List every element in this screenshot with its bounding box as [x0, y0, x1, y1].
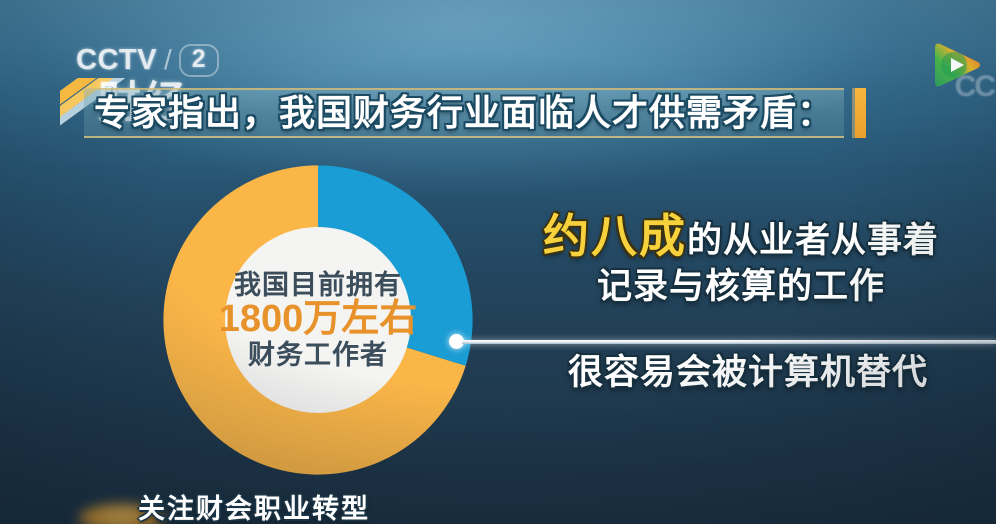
donut-center-line-1: 我国目前拥有 [213, 271, 423, 299]
callout-block: 约八成 的从业者从事着 记录与核算的工作 [498, 212, 984, 308]
cctv-slash-icon: / [164, 44, 172, 76]
ticker-text: 关注财会职业转型 [138, 487, 370, 524]
cctv-wordmark: CCTV [76, 46, 157, 75]
donut-center-highlight: 1800万左右 [213, 300, 423, 340]
watermark-letters: CC [955, 72, 994, 102]
leader-line [462, 340, 996, 344]
donut-chart: 我国目前拥有 1800万左右 财务工作者 [158, 160, 478, 480]
callout-highlight: 约八成 [543, 212, 687, 261]
headline-end-bar [855, 88, 866, 138]
broadcast-frame: 我国目前拥有 1800万左右 财务工作者 约八成 的从业者从事着 记录与核算的工… [0, 0, 996, 524]
donut-center-line-3: 财务工作者 [213, 341, 423, 369]
callout-line-2: 记录与核算的工作 [498, 266, 984, 308]
cctv-channel-bug: CCTV / 2 [76, 44, 219, 77]
donut-center-label: 我国目前拥有 1800万左右 财务工作者 [213, 271, 423, 369]
callout-line-3-text: 很容易会被计算机替代 [568, 353, 928, 392]
callout-line-1: 约八成 的从业者从事着 [498, 212, 984, 262]
callout-line-1-rest: 的从业者从事着 [687, 220, 939, 262]
callout-line-3: 很容易会被计算机替代 [512, 352, 984, 394]
callout-line-2-text: 记录与核算的工作 [597, 267, 885, 306]
headline-text: 专家指出，我国财务行业面临人才供需矛盾： [94, 95, 834, 131]
headline-banner: 专家指出，我国财务行业面临人才供需矛盾： [84, 88, 844, 138]
cctv-channel-number: 2 [179, 44, 219, 77]
